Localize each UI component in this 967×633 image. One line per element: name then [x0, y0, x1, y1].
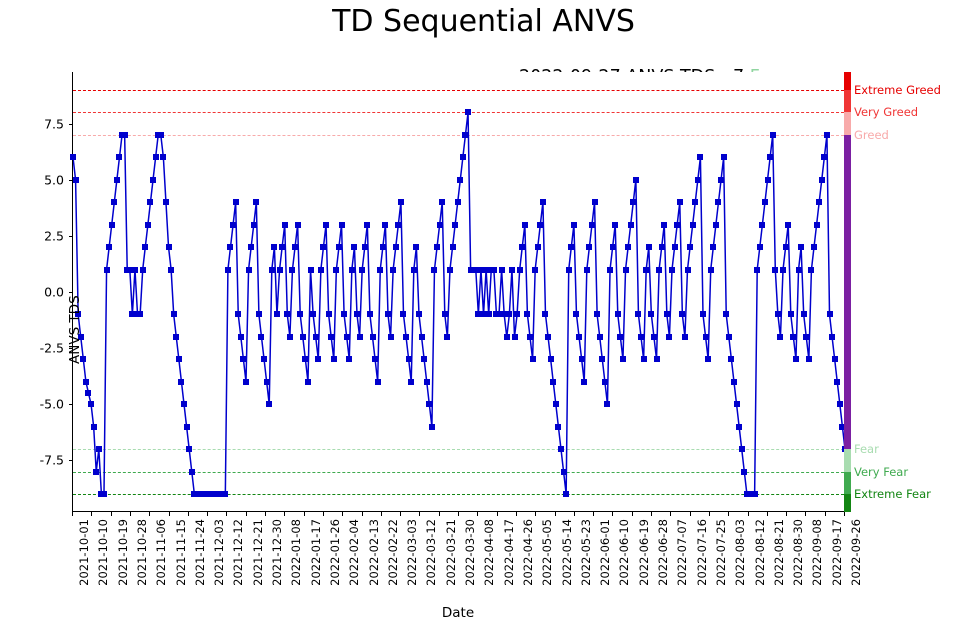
data-point-marker: [592, 199, 598, 205]
x-tick-mark: [690, 512, 691, 516]
data-point-marker: [661, 222, 667, 228]
data-point-marker: [439, 199, 445, 205]
data-point-marker: [770, 132, 776, 138]
data-point-marker: [829, 334, 835, 340]
data-point-marker: [328, 334, 334, 340]
data-point-marker: [537, 222, 543, 228]
data-point-marker: [359, 267, 365, 273]
x-tick-label: 2022-03-03: [405, 519, 419, 586]
data-point-marker: [382, 222, 388, 228]
data-point-marker: [798, 244, 804, 250]
data-point-marker: [584, 267, 590, 273]
data-point-marker: [517, 267, 523, 273]
data-point-marker: [261, 356, 267, 362]
data-point-marker: [796, 267, 802, 273]
x-tick-mark: [458, 512, 459, 516]
x-tick-mark: [362, 512, 363, 516]
data-point-marker: [313, 334, 319, 340]
data-point-marker: [687, 244, 693, 250]
data-point-marker: [367, 311, 373, 317]
y-tick-mark: [69, 404, 73, 405]
data-point-marker: [310, 311, 316, 317]
data-point-marker: [651, 334, 657, 340]
data-point-marker: [111, 199, 117, 205]
data-point-marker: [274, 311, 280, 317]
data-point-marker: [834, 379, 840, 385]
x-tick-label: 2022-08-21: [772, 519, 786, 586]
data-point-marker: [594, 311, 600, 317]
data-point-marker: [400, 311, 406, 317]
data-point-marker: [364, 222, 370, 228]
data-point-marker: [279, 244, 285, 250]
x-tick-label: 2022-08-03: [733, 519, 747, 586]
data-point-marker: [426, 401, 432, 407]
data-point-marker: [437, 222, 443, 228]
data-point-marker: [589, 222, 595, 228]
data-point-marker: [759, 222, 765, 228]
data-point-marker: [354, 311, 360, 317]
data-point-marker: [465, 109, 471, 115]
data-point-marker: [147, 199, 153, 205]
x-tick-label: 2022-03-30: [463, 519, 477, 586]
data-point-marker: [326, 311, 332, 317]
data-point-marker: [623, 267, 629, 273]
data-point-marker: [145, 222, 151, 228]
data-point-marker: [362, 244, 368, 250]
x-tick-label: 2021-12-03: [212, 519, 226, 586]
data-point-marker: [666, 334, 672, 340]
data-point-marker: [628, 222, 634, 228]
data-point-marker: [550, 379, 556, 385]
y-tick-mark: [69, 236, 73, 237]
data-point-marker: [674, 222, 680, 228]
x-tick-label: 2022-01-17: [309, 519, 323, 586]
y-tick-label: 5.0: [0, 172, 64, 187]
data-point-marker: [297, 311, 303, 317]
x-tick-label: 2021-12-21: [251, 519, 265, 586]
data-point-marker: [579, 356, 585, 362]
data-point-marker: [607, 267, 613, 273]
x-tick-label: 2022-01-08: [289, 519, 303, 586]
data-point-marker: [555, 424, 561, 430]
data-point-marker: [573, 311, 579, 317]
x-tick-mark: [207, 512, 208, 516]
data-point-marker: [542, 311, 548, 317]
x-tick-label: 2022-02-22: [386, 519, 400, 586]
data-point-marker: [73, 177, 79, 183]
data-point-marker: [344, 334, 350, 340]
data-point-marker: [227, 244, 233, 250]
data-point-marker: [292, 244, 298, 250]
data-point-marker: [741, 469, 747, 475]
data-point-marker: [646, 244, 652, 250]
data-point-marker: [150, 177, 156, 183]
x-tick-mark: [574, 512, 575, 516]
data-point-marker: [790, 334, 796, 340]
data-point-marker: [672, 244, 678, 250]
zone-bar-segment-0: [844, 72, 851, 90]
data-point-marker: [83, 379, 89, 385]
y-tick-mark: [69, 292, 73, 293]
x-tick-mark: [130, 512, 131, 516]
data-point-marker: [70, 154, 76, 160]
x-tick-mark: [767, 512, 768, 516]
x-tick-mark: [188, 512, 189, 516]
x-tick-label: 2022-03-21: [444, 519, 458, 586]
data-point-marker: [176, 356, 182, 362]
data-point-marker: [305, 379, 311, 385]
x-tick-label: 2022-02-13: [367, 519, 381, 586]
data-point-marker: [264, 379, 270, 385]
data-point-marker: [106, 244, 112, 250]
x-tick-label: 2022-08-30: [791, 519, 805, 586]
data-point-marker: [775, 311, 781, 317]
data-point-marker: [253, 199, 259, 205]
data-point-marker: [772, 267, 778, 273]
x-tick-mark: [632, 512, 633, 516]
data-point-marker: [522, 222, 528, 228]
data-point-marker: [323, 222, 329, 228]
data-point-marker: [277, 267, 283, 273]
data-point-marker: [535, 244, 541, 250]
x-tick-mark: [265, 512, 266, 516]
data-point-marker: [721, 154, 727, 160]
data-point-marker: [664, 311, 670, 317]
data-point-marker: [599, 356, 605, 362]
data-point-marker: [767, 154, 773, 160]
x-tick-mark: [805, 512, 806, 516]
data-point-marker: [109, 222, 115, 228]
data-point-marker: [491, 267, 497, 273]
data-point-marker: [703, 334, 709, 340]
x-tick-mark: [304, 512, 305, 516]
x-tick-label: 2022-06-19: [637, 519, 651, 586]
data-point-marker: [300, 334, 306, 340]
data-point-marker: [375, 379, 381, 385]
y-tick-mark: [69, 460, 73, 461]
zone-bar-segment-3: [844, 135, 851, 449]
data-point-marker: [692, 199, 698, 205]
data-point-marker: [289, 267, 295, 273]
data-point-marker: [258, 334, 264, 340]
x-tick-label: 2022-04-26: [521, 519, 535, 586]
data-point-marker: [173, 334, 179, 340]
data-point-marker: [406, 356, 412, 362]
data-point-marker: [506, 311, 512, 317]
data-point-marker: [597, 334, 603, 340]
data-point-marker: [431, 267, 437, 273]
data-point-marker: [377, 267, 383, 273]
data-point-marker: [669, 267, 675, 273]
y-tick-mark: [69, 180, 73, 181]
data-point-marker: [168, 267, 174, 273]
data-point-marker: [811, 244, 817, 250]
x-tick-mark: [246, 512, 247, 516]
data-point-marker: [509, 267, 515, 273]
data-point-marker: [785, 222, 791, 228]
x-tick-label: 2022-07-25: [714, 519, 728, 586]
data-point-marker: [153, 154, 159, 160]
x-tick-label: 2022-05-14: [560, 519, 574, 586]
data-point-marker: [166, 244, 172, 250]
x-tick-mark: [169, 512, 170, 516]
data-point-marker: [803, 334, 809, 340]
x-tick-mark: [497, 512, 498, 516]
x-tick-label: 2022-04-17: [502, 519, 516, 586]
data-point-marker: [380, 244, 386, 250]
data-point-marker: [821, 154, 827, 160]
data-point-marker: [158, 132, 164, 138]
data-point-marker: [96, 446, 102, 452]
data-point-marker: [88, 401, 94, 407]
x-axis-label: Date: [72, 605, 844, 621]
zone-bar-segment-4: [844, 449, 851, 471]
x-tick-label: 2022-06-01: [598, 519, 612, 586]
zone-bar-segment-5: [844, 472, 851, 494]
data-point-marker: [524, 311, 530, 317]
zone-label-greed: Greed: [854, 128, 889, 142]
x-tick-mark: [825, 512, 826, 516]
x-tick-label: 2021-11-06: [154, 519, 168, 586]
x-tick-label: 2021-10-01: [77, 519, 91, 586]
data-point-marker: [336, 244, 342, 250]
x-tick-mark: [516, 512, 517, 516]
data-point-marker: [341, 311, 347, 317]
data-point-marker: [532, 267, 538, 273]
data-point-marker: [346, 356, 352, 362]
data-point-marker: [708, 267, 714, 273]
zone-label-extreme-greed: Extreme Greed: [854, 83, 941, 97]
x-tick-mark: [651, 512, 652, 516]
data-point-marker: [654, 356, 660, 362]
data-point-marker: [282, 222, 288, 228]
x-tick-mark: [748, 512, 749, 516]
x-tick-mark: [226, 512, 227, 516]
data-point-marker: [385, 311, 391, 317]
data-point-marker: [705, 356, 711, 362]
x-tick-mark: [728, 512, 729, 516]
data-point-marker: [460, 154, 466, 160]
data-point-marker: [370, 334, 376, 340]
data-point-marker: [248, 244, 254, 250]
x-tick-mark: [670, 512, 671, 516]
data-point-marker: [617, 334, 623, 340]
data-point-marker: [602, 379, 608, 385]
data-point-marker: [780, 267, 786, 273]
data-point-marker: [302, 356, 308, 362]
data-point-marker: [568, 244, 574, 250]
x-tick-label: 2021-12-12: [231, 519, 245, 586]
data-point-marker: [571, 222, 577, 228]
x-tick-mark: [323, 512, 324, 516]
data-point-marker: [287, 334, 293, 340]
chart-figure: TD Sequential ANVS W3Data.io Chart Web3 …: [0, 0, 967, 633]
zone-bar-segment-6: [844, 494, 851, 512]
x-tick-mark: [72, 512, 73, 516]
data-point-marker: [656, 267, 662, 273]
x-tick-label: 2021-10-28: [135, 519, 149, 586]
data-point-marker: [548, 356, 554, 362]
data-point-marker: [832, 356, 838, 362]
data-point-marker: [530, 356, 536, 362]
data-point-marker: [697, 154, 703, 160]
data-point-marker: [625, 244, 631, 250]
data-point-marker: [576, 334, 582, 340]
x-tick-label: 2021-11-15: [174, 519, 188, 586]
x-tick-mark: [91, 512, 92, 516]
data-point-marker: [444, 334, 450, 340]
data-point-marker: [122, 132, 128, 138]
x-tick-label: 2022-02-04: [347, 519, 361, 586]
data-point-marker: [171, 311, 177, 317]
data-point-marker: [184, 424, 190, 430]
data-point-marker: [793, 356, 799, 362]
y-tick-mark: [69, 124, 73, 125]
x-tick-mark: [342, 512, 343, 516]
data-point-marker: [586, 244, 592, 250]
data-point-marker: [333, 267, 339, 273]
data-point-marker: [710, 244, 716, 250]
data-point-marker: [635, 311, 641, 317]
y-tick-label: -2.5: [0, 341, 64, 356]
x-tick-label: 2022-03-12: [424, 519, 438, 586]
zone-label-very-fear: Very Fear: [854, 465, 908, 479]
data-point-marker: [819, 177, 825, 183]
y-tick-label: 7.5: [0, 116, 64, 131]
data-point-marker: [442, 311, 448, 317]
data-point-marker: [685, 267, 691, 273]
data-point-marker: [612, 222, 618, 228]
data-point-marker: [777, 334, 783, 340]
data-point-marker: [395, 222, 401, 228]
data-point-marker: [739, 446, 745, 452]
data-point-marker: [403, 334, 409, 340]
data-point-marker: [504, 334, 510, 340]
data-point-marker: [713, 222, 719, 228]
data-point-marker: [620, 356, 626, 362]
x-tick-label: 2022-07-16: [695, 519, 709, 586]
y-tick-label: -5.0: [0, 397, 64, 412]
data-point-marker: [421, 356, 427, 362]
data-point-marker: [137, 311, 143, 317]
data-point-marker: [648, 311, 654, 317]
data-point-marker: [553, 401, 559, 407]
data-point-marker: [514, 311, 520, 317]
plot-area: ANVS TDS: [72, 72, 844, 512]
data-point-marker: [527, 334, 533, 340]
data-point-marker: [788, 311, 794, 317]
data-point-marker: [225, 267, 231, 273]
data-point-marker: [558, 446, 564, 452]
data-point-marker: [752, 491, 758, 497]
data-point-marker: [233, 199, 239, 205]
data-point-marker: [540, 199, 546, 205]
x-tick-label: 2022-09-26: [849, 519, 863, 586]
data-point-marker: [132, 267, 138, 273]
data-point-marker: [372, 356, 378, 362]
x-tick-mark: [419, 512, 420, 516]
x-tick-mark: [284, 512, 285, 516]
page-title: TD Sequential ANVS: [0, 4, 967, 39]
data-point-marker: [181, 401, 187, 407]
x-tick-label: 2022-08-12: [753, 519, 767, 586]
data-point-marker: [814, 222, 820, 228]
data-point-marker: [230, 222, 236, 228]
data-point-marker: [424, 379, 430, 385]
x-tick-mark: [149, 512, 150, 516]
data-point-marker: [512, 334, 518, 340]
data-point-marker: [659, 244, 665, 250]
data-point-marker: [726, 334, 732, 340]
data-point-marker: [178, 379, 184, 385]
data-point-marker: [238, 334, 244, 340]
data-point-marker: [824, 132, 830, 138]
x-tick-mark: [555, 512, 556, 516]
x-tick-label: 2021-11-24: [193, 519, 207, 586]
data-point-marker: [114, 177, 120, 183]
x-tick-label: 2022-09-17: [830, 519, 844, 586]
data-point-marker: [679, 311, 685, 317]
data-point-marker: [189, 469, 195, 475]
zone-bar-segment-1: [844, 90, 851, 112]
x-tick-mark: [400, 512, 401, 516]
data-point-marker: [581, 379, 587, 385]
data-point-marker: [116, 154, 122, 160]
data-point-marker: [499, 267, 505, 273]
x-tick-mark: [111, 512, 112, 516]
x-tick-mark: [439, 512, 440, 516]
data-point-marker: [388, 334, 394, 340]
zone-label-extreme-fear: Extreme Fear: [854, 487, 931, 501]
data-point-marker: [269, 267, 275, 273]
x-tick-mark: [844, 512, 845, 516]
data-point-marker: [413, 244, 419, 250]
data-point-marker: [251, 222, 257, 228]
x-tick-label: 2022-04-08: [482, 519, 496, 586]
x-tick-label: 2021-10-19: [116, 519, 130, 586]
data-point-marker: [731, 379, 737, 385]
data-point-marker: [610, 244, 616, 250]
data-point-marker: [222, 491, 228, 497]
data-point-marker: [434, 244, 440, 250]
data-point-marker: [393, 244, 399, 250]
data-point-marker: [566, 267, 572, 273]
data-point-marker: [561, 469, 567, 475]
x-tick-label: 2022-07-07: [675, 519, 689, 586]
data-point-marker: [320, 244, 326, 250]
data-point-marker: [462, 132, 468, 138]
data-point-marker: [429, 424, 435, 430]
data-point-marker: [101, 491, 107, 497]
data-point-marker: [91, 424, 97, 430]
data-point-marker: [349, 267, 355, 273]
x-tick-mark: [593, 512, 594, 516]
x-tick-mark: [477, 512, 478, 516]
data-point-marker: [519, 244, 525, 250]
data-point-marker: [416, 311, 422, 317]
data-point-marker: [677, 199, 683, 205]
data-point-marker: [266, 401, 272, 407]
data-point-marker: [315, 356, 321, 362]
data-point-marker: [630, 199, 636, 205]
data-point-marker: [240, 356, 246, 362]
x-tick-mark: [381, 512, 382, 516]
data-point-marker: [295, 222, 301, 228]
data-point-marker: [641, 356, 647, 362]
data-point-marker: [390, 267, 396, 273]
data-point-marker: [235, 311, 241, 317]
data-point-marker: [723, 311, 729, 317]
